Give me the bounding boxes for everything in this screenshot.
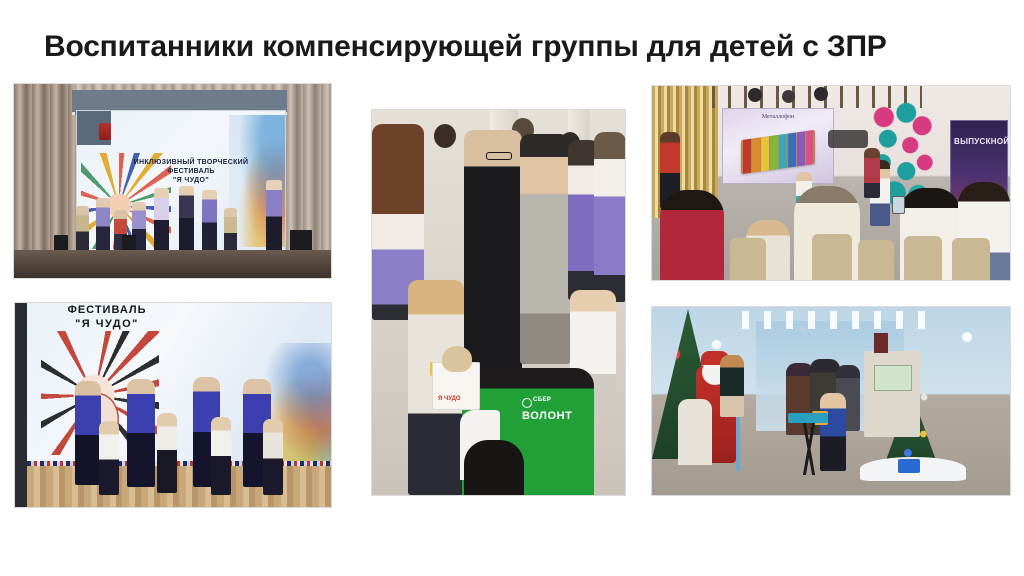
screen-caption-line3: "Я ЧУДО" <box>127 177 255 186</box>
person-kneeling <box>464 440 524 495</box>
performer <box>202 190 217 250</box>
parquet-floor <box>27 466 331 507</box>
smartphone-icon <box>892 196 905 214</box>
crowd-volunteers-photo: СБЕР ВОЛОНТ Я ЧУДО <box>372 110 625 495</box>
teacher <box>127 379 155 487</box>
performer <box>179 186 194 250</box>
performer <box>96 198 110 250</box>
stage-prop-wall <box>864 351 920 437</box>
page-title: Воспитанники компенсирующей группы для д… <box>44 26 984 68</box>
screen-caption-line2: "Я ЧУДО" <box>27 317 187 331</box>
person-child-striped <box>416 146 454 296</box>
performer <box>224 208 237 250</box>
child <box>263 419 283 495</box>
bag-logo: Я ЧУДО <box>438 396 461 402</box>
xylo-bar <box>752 138 760 173</box>
chair <box>858 240 894 280</box>
screen-caption-line1: ФЕСТИВАЛЬ <box>27 303 187 317</box>
prop-window <box>874 333 888 353</box>
projection-screen: Металлофон <box>722 108 834 184</box>
screen-caption-line2: ФЕСТИВАЛЬ <box>127 168 255 177</box>
led-screen: ФЕСТИВАЛЬ "Я ЧУДО" <box>27 303 331 463</box>
stand-legs <box>792 423 826 475</box>
chair <box>812 234 852 280</box>
performer <box>76 206 89 250</box>
vest-logo-icon <box>522 398 532 408</box>
performer <box>154 188 169 250</box>
eyeglasses-icon <box>486 152 512 160</box>
chair <box>952 238 990 280</box>
chair-white <box>678 399 712 465</box>
screen-title: Металлофон <box>723 114 833 120</box>
plush-toy <box>442 346 472 372</box>
coat-of-arms-icon <box>99 123 111 140</box>
screen-caption-line1: ИНКЛЮЗИВНЫЙ ТВОРЧЕСКИЙ <box>127 159 255 168</box>
vest-brand-label: СБЕР <box>533 397 551 403</box>
hall-scene: Металлофон ВЫПУСКНОЙ <box>652 86 1010 280</box>
child <box>157 413 177 493</box>
presenter <box>266 180 282 250</box>
child <box>99 421 119 495</box>
xylo-bar <box>788 132 796 167</box>
assistant-standing <box>720 355 744 417</box>
banner-text: ВЫПУСКНОЙ <box>954 137 1006 146</box>
xylo-bar <box>797 131 805 166</box>
stage-scene: ИНКЛЮЗИВНЫЙ ТВОРЧЕСКИЙ ФЕСТИВАЛЬ "Я ЧУДО… <box>14 84 331 278</box>
person-head <box>434 124 456 148</box>
festival-sun-photo: ФЕСТИВАЛЬ "Я ЧУДО" <box>15 303 331 507</box>
screen-caption: ФЕСТИВАЛЬ "Я ЧУДО" <box>27 303 187 332</box>
teacher <box>75 381 101 485</box>
hanging-record-decor <box>814 87 828 101</box>
chair <box>904 236 942 280</box>
festival-scene: ФЕСТИВАЛЬ "Я ЧУДО" <box>15 303 331 507</box>
new-year-party-photo <box>652 307 1010 495</box>
person-teen-grey <box>520 134 570 364</box>
music-hall-photo: Металлофон ВЫПУСКНОЙ <box>652 86 1010 280</box>
stage-left-edge <box>15 303 27 507</box>
hanging-record-decor <box>748 88 762 102</box>
prop-screen-panel <box>874 365 912 391</box>
person-volunteer-purple <box>594 132 625 302</box>
gift-box <box>898 459 920 473</box>
metallophone-illustration <box>741 130 815 174</box>
stage-speaker <box>290 230 312 252</box>
hanging-record-decor <box>782 90 795 103</box>
crowd-scene: СБЕР ВОЛОНТ Я ЧУДО <box>372 110 625 495</box>
stage-floor <box>14 250 331 278</box>
xylo-bar <box>779 134 787 169</box>
person-man-black <box>464 130 522 390</box>
xylo-bar <box>761 136 769 171</box>
stage-festival-photo: ИНКЛЮЗИВНЫЙ ТВОРЧЕСКИЙ ФЕСТИВАЛЬ "Я ЧУДО… <box>14 84 331 278</box>
screen-caption: ИНКЛЮЗИВНЫЙ ТВОРЧЕСКИЙ ФЕСТИВАЛЬ "Я ЧУДО… <box>127 159 255 185</box>
child <box>211 417 231 495</box>
vest-role-label: ВОЛОНТ <box>522 410 573 422</box>
snowflake-garland <box>742 311 932 329</box>
new-year-scene <box>652 307 1010 495</box>
xylo-bar <box>743 139 751 174</box>
balloon-letters-decor <box>828 130 868 148</box>
woman-standing <box>864 148 880 198</box>
audience-member <box>660 190 724 280</box>
keyboard-stand <box>788 413 828 423</box>
chair <box>730 238 766 280</box>
xylo-bar <box>806 130 813 165</box>
xylo-bar <box>770 135 778 170</box>
